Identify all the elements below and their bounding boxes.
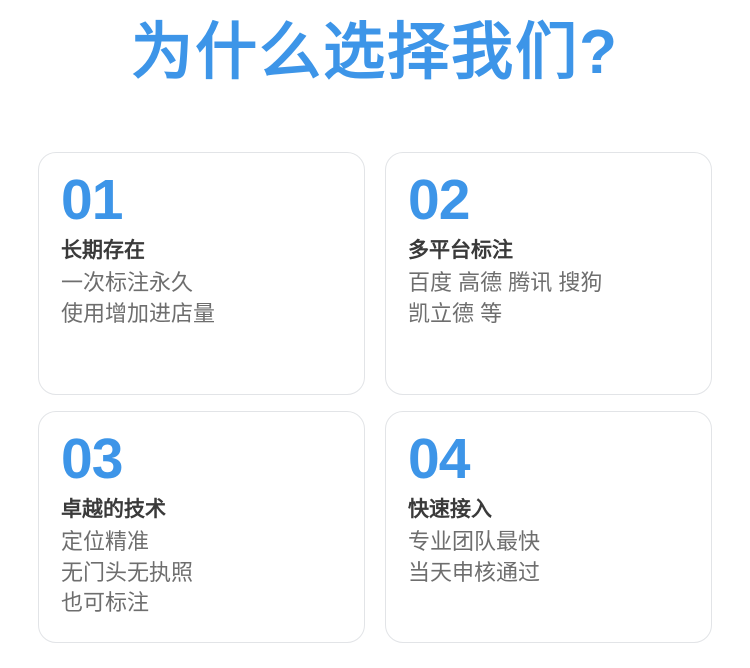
card-description: 一次标注永久 使用增加进店量: [61, 268, 342, 329]
card-description: 专业团队最快 当天申核通过: [408, 527, 689, 588]
card-title: 卓越的技术: [61, 496, 342, 523]
card-title: 长期存在: [61, 237, 342, 264]
card-description: 百度 高德 腾讯 搜狗 凯立德 等: [408, 268, 689, 329]
card-title: 快速接入: [408, 496, 689, 523]
card-description: 定位精准 无门头无执照 也可标注: [61, 527, 342, 618]
card-number: 03: [61, 430, 342, 490]
card-number: 01: [61, 171, 342, 231]
card-title: 多平台标注: [408, 237, 689, 264]
feature-card-03: 03 卓越的技术 定位精准 无门头无执照 也可标注: [38, 411, 365, 643]
feature-card-grid: 01 长期存在 一次标注永久 使用增加进店量 02 多平台标注 百度 高德 腾讯…: [38, 152, 712, 643]
feature-card-04: 04 快速接入 专业团队最快 当天申核通过: [385, 411, 712, 643]
feature-card-01: 01 长期存在 一次标注永久 使用增加进店量: [38, 152, 365, 395]
feature-card-02: 02 多平台标注 百度 高德 腾讯 搜狗 凯立德 等: [385, 152, 712, 395]
promo-page: 为什么选择我们? 01 长期存在 一次标注永久 使用增加进店量 02 多平台标注…: [0, 0, 750, 668]
card-number: 04: [408, 430, 689, 490]
page-title: 为什么选择我们?: [0, 0, 750, 84]
card-number: 02: [408, 171, 689, 231]
